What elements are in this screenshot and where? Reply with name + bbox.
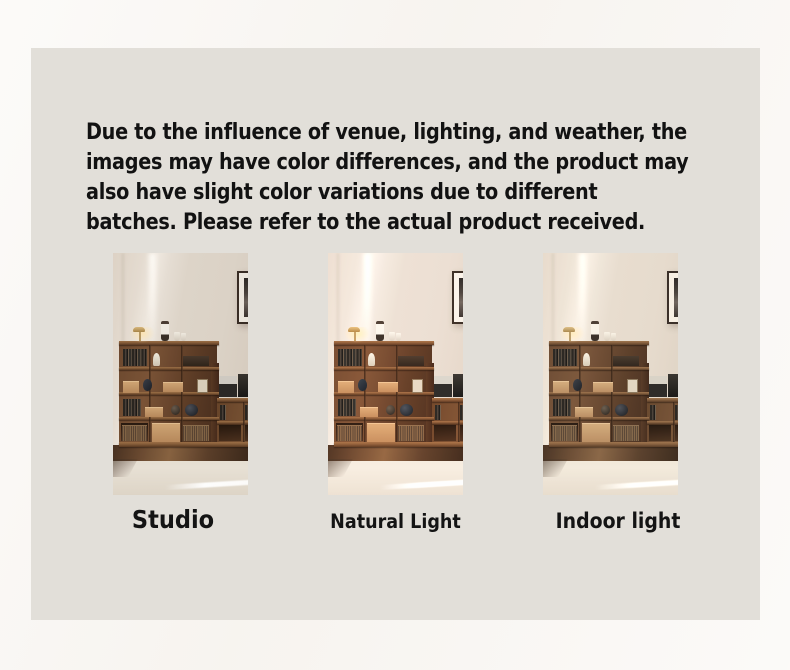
books-row: [650, 405, 656, 420]
decanter: [161, 321, 169, 341]
storage-box: [183, 356, 209, 366]
storage-box: [123, 381, 139, 393]
shelf-board: [119, 417, 219, 420]
product-image-studio[interactable]: Stepped walnut bookshelf styled with boo…: [113, 253, 248, 495]
coffee-grinder: [668, 374, 678, 397]
content-panel: Due to the influence of venue, lighting,…: [31, 48, 760, 620]
espresso-machine: [649, 376, 667, 397]
storage-box: [593, 382, 613, 392]
bust-figurine: [368, 353, 375, 366]
caption-studio: Studio: [73, 503, 273, 553]
glassware: [611, 333, 616, 341]
vase: [143, 379, 152, 391]
product-image-natural-light[interactable]: Same stepped walnut bookshelf photograph…: [328, 253, 463, 495]
shelf-base-board: [549, 442, 678, 447]
woven-basket: [552, 425, 577, 441]
bust-figurine: [583, 353, 590, 366]
bookshelf-unit: [119, 341, 248, 447]
decor-sphere: [171, 405, 180, 415]
decor-bowl: [615, 404, 628, 416]
storage-box: [553, 381, 569, 393]
shelf-board: [549, 417, 649, 420]
vase: [573, 379, 582, 391]
books-row: [553, 399, 571, 416]
storage-drawer: [582, 423, 610, 442]
shelf-cell: [649, 425, 671, 441]
shelf-divider: [579, 345, 581, 442]
desk-lamp: [133, 327, 145, 332]
storage-box: [360, 407, 378, 417]
coffee-grinder: [238, 374, 248, 397]
artwork-photo: [674, 278, 678, 317]
picture-frame: [197, 379, 208, 393]
artwork-mat: [669, 273, 678, 322]
woven-basket: [122, 425, 147, 441]
picture-frame: [412, 379, 423, 393]
woven-basket: [337, 425, 362, 441]
framed-artwork: [237, 271, 248, 324]
decanter: [591, 321, 599, 341]
books-row: [220, 405, 226, 420]
shelf-cell: [245, 425, 248, 441]
glassware: [396, 333, 401, 341]
product-image-gallery: Stepped walnut bookshelf styled with boo…: [73, 237, 718, 479]
books-row: [338, 399, 356, 416]
bookshelf-unit: [549, 341, 678, 447]
shelf-board: [334, 417, 434, 420]
coffee-grinder: [453, 374, 463, 397]
storage-box: [575, 407, 593, 417]
books-row: [435, 405, 441, 420]
storage-box: [145, 407, 163, 417]
bookshelf-unit: [334, 341, 463, 447]
espresso-machine: [219, 376, 237, 397]
books-row: [123, 349, 147, 366]
picture-frame: [627, 379, 638, 393]
page-root: Due to the influence of venue, lighting,…: [0, 0, 790, 670]
shelf-divider: [149, 345, 151, 442]
storage-box: [398, 356, 424, 366]
decor-sphere: [601, 405, 610, 415]
books-row: [553, 349, 577, 366]
glassware: [389, 332, 395, 341]
scene-studio: [113, 253, 248, 495]
storage-box: [338, 381, 354, 393]
books-row: [338, 349, 362, 366]
caption-natural-light: Natural Light: [296, 503, 496, 553]
decor-sphere: [386, 405, 395, 415]
image-captions: Studio Natural Light Indoor light: [73, 503, 718, 553]
storage-box: [378, 382, 398, 392]
storage-box: [163, 382, 183, 392]
shelf-cell: [219, 425, 241, 441]
artwork-mat: [239, 273, 248, 322]
shelf-cell: [434, 425, 456, 441]
shelf-cell: [460, 425, 463, 441]
glassware: [604, 332, 610, 341]
artwork-photo: [459, 278, 463, 317]
decanter: [376, 321, 384, 341]
shelf-board: [334, 367, 434, 370]
woven-basket: [398, 425, 424, 441]
shelf-base-board: [334, 442, 463, 447]
scene-indoor: [543, 253, 678, 495]
woven-basket: [613, 425, 639, 441]
caption-indoor-light: Indoor light: [518, 503, 718, 553]
desk-lamp: [563, 327, 575, 332]
framed-artwork: [452, 271, 463, 324]
books-row: [123, 399, 141, 416]
artwork-mat: [454, 273, 463, 322]
artwork-photo: [244, 278, 248, 317]
shelf-base-board: [119, 442, 248, 447]
shelf-board: [119, 367, 219, 370]
desk-lamp: [348, 327, 360, 332]
espresso-machine: [434, 376, 452, 397]
shelf-divider: [364, 345, 366, 442]
scene-natural: [328, 253, 463, 495]
shelf-board: [549, 367, 649, 370]
framed-artwork: [667, 271, 678, 324]
bust-figurine: [153, 353, 160, 366]
disclaimer-text: Due to the influence of venue, lighting,…: [86, 117, 694, 237]
glassware: [174, 332, 180, 341]
storage-drawer: [367, 423, 395, 442]
decor-bowl: [400, 404, 413, 416]
product-image-indoor-light[interactable]: Same stepped walnut bookshelf photograph…: [543, 253, 678, 495]
vase: [358, 379, 367, 391]
glassware: [181, 333, 186, 341]
decor-bowl: [185, 404, 198, 416]
shelf-cell: [675, 425, 678, 441]
storage-box: [613, 356, 639, 366]
woven-basket: [183, 425, 209, 441]
storage-drawer: [152, 423, 180, 442]
